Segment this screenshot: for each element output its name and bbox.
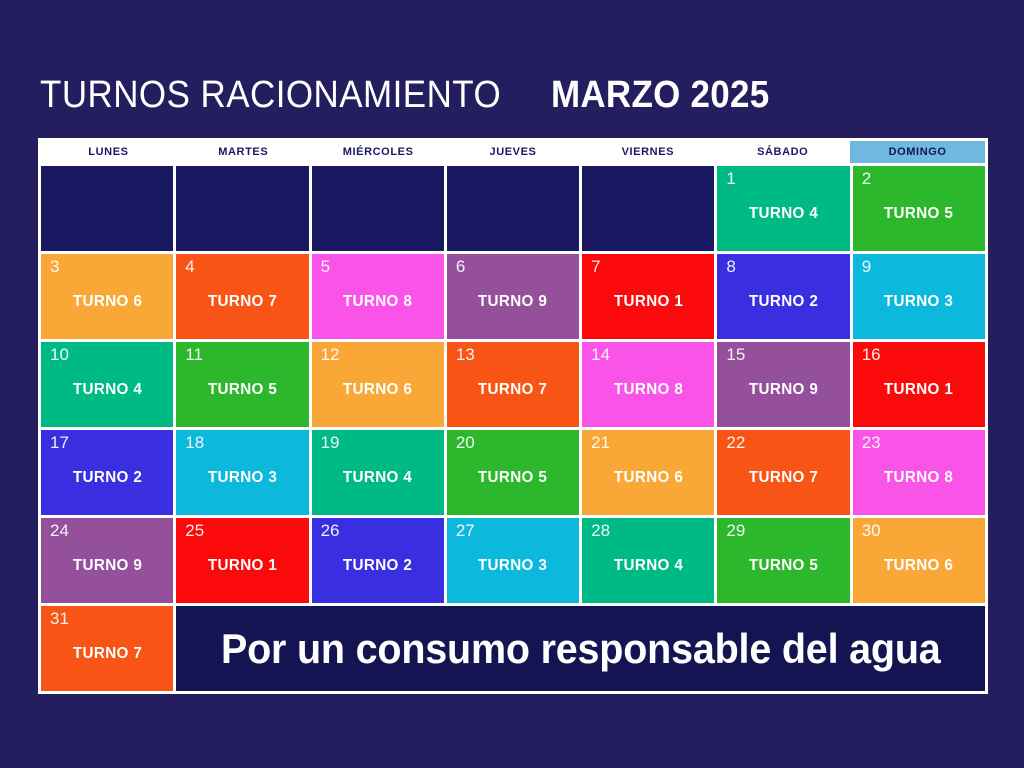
turno-label: TURNO 7 xyxy=(749,469,818,487)
calendar-weekday-header: LUNESMARTESMIÉRCOLESJUEVESVIERNESSÁBADOD… xyxy=(41,141,985,163)
weekday-header-jueves: JUEVES xyxy=(446,141,581,163)
weekday-header-viernes: VIERNES xyxy=(580,141,715,163)
turno-label: TURNO 7 xyxy=(72,645,141,663)
day-cell[interactable]: 17TURNO 2 xyxy=(41,430,173,515)
turno-label: TURNO 9 xyxy=(749,381,818,399)
turno-label: TURNO 2 xyxy=(343,557,412,575)
day-cell[interactable]: 27TURNO 3 xyxy=(447,518,579,603)
day-cell[interactable]: 24TURNO 9 xyxy=(41,518,173,603)
turno-label: TURNO 3 xyxy=(208,469,277,487)
day-cell[interactable]: 28TURNO 4 xyxy=(582,518,714,603)
turno-label: TURNO 5 xyxy=(478,469,547,487)
day-cell[interactable]: 31TURNO 7 xyxy=(41,606,173,691)
day-cell[interactable]: 4TURNO 7 xyxy=(176,254,308,339)
day-cell[interactable]: 3TURNO 6 xyxy=(41,254,173,339)
day-cell[interactable]: 21TURNO 6 xyxy=(582,430,714,515)
calendar-day-grid: 1TURNO 42TURNO 53TURNO 64TURNO 75TURNO 8… xyxy=(41,163,985,691)
day-number: 29 xyxy=(726,522,745,539)
day-cell[interactable]: 12TURNO 6 xyxy=(312,342,444,427)
day-number: 4 xyxy=(185,258,194,275)
day-cell[interactable]: 16TURNO 1 xyxy=(853,342,985,427)
day-cell[interactable]: 2TURNO 5 xyxy=(853,166,985,251)
day-number: 9 xyxy=(862,258,871,275)
turno-label: TURNO 1 xyxy=(208,557,277,575)
turno-label: TURNO 4 xyxy=(343,469,412,487)
day-cell[interactable]: 14TURNO 8 xyxy=(582,342,714,427)
day-cell[interactable]: 15TURNO 9 xyxy=(717,342,849,427)
day-number: 3 xyxy=(50,258,59,275)
weekday-header-miércoles: MIÉRCOLES xyxy=(311,141,446,163)
day-number: 5 xyxy=(321,258,330,275)
weekday-header-lunes: LUNES xyxy=(41,141,176,163)
turno-label: TURNO 7 xyxy=(208,293,277,311)
day-cell[interactable]: 7TURNO 1 xyxy=(582,254,714,339)
day-number: 14 xyxy=(591,346,610,363)
page-title-month-year: MARZO 2025 xyxy=(551,76,769,114)
day-number: 8 xyxy=(726,258,735,275)
turno-label: TURNO 3 xyxy=(884,293,953,311)
day-cell[interactable]: 18TURNO 3 xyxy=(176,430,308,515)
turno-label: TURNO 4 xyxy=(749,205,818,223)
turno-label: TURNO 9 xyxy=(478,293,547,311)
day-cell[interactable]: 25TURNO 1 xyxy=(176,518,308,603)
day-number: 25 xyxy=(185,522,204,539)
day-cell-empty xyxy=(176,166,308,251)
ration-schedule-poster: TURNOS RACIONAMIENTO MARZO 2025 LUNESMAR… xyxy=(0,0,1024,768)
day-cell[interactable]: 26TURNO 2 xyxy=(312,518,444,603)
slogan-banner: Por un consumo responsable del agua xyxy=(176,606,985,691)
day-number: 18 xyxy=(185,434,204,451)
day-number: 7 xyxy=(591,258,600,275)
day-cell[interactable]: 13TURNO 7 xyxy=(447,342,579,427)
day-number: 21 xyxy=(591,434,610,451)
day-cell[interactable]: 9TURNO 3 xyxy=(853,254,985,339)
day-number: 11 xyxy=(185,346,203,363)
turno-label: TURNO 8 xyxy=(343,293,412,311)
day-cell[interactable]: 6TURNO 9 xyxy=(447,254,579,339)
page-title: TURNOS RACIONAMIENTO MARZO 2025 xyxy=(40,56,990,114)
turno-label: TURNO 6 xyxy=(884,557,953,575)
day-cell[interactable]: 11TURNO 5 xyxy=(176,342,308,427)
day-number: 20 xyxy=(456,434,475,451)
day-cell[interactable]: 30TURNO 6 xyxy=(853,518,985,603)
day-number: 28 xyxy=(591,522,610,539)
turno-label: TURNO 7 xyxy=(478,381,547,399)
day-number: 1 xyxy=(726,170,735,187)
turno-label: TURNO 2 xyxy=(72,469,141,487)
turno-label: TURNO 3 xyxy=(478,557,547,575)
day-cell[interactable]: 1TURNO 4 xyxy=(717,166,849,251)
day-cell[interactable]: 10TURNO 4 xyxy=(41,342,173,427)
day-cell[interactable]: 19TURNO 4 xyxy=(312,430,444,515)
turno-label: TURNO 6 xyxy=(614,469,683,487)
day-cell-empty xyxy=(41,166,173,251)
day-number: 22 xyxy=(726,434,745,451)
weekday-header-martes: MARTES xyxy=(176,141,311,163)
day-number: 27 xyxy=(456,522,475,539)
turno-label: TURNO 6 xyxy=(72,293,141,311)
day-number: 19 xyxy=(321,434,340,451)
day-cell[interactable]: 20TURNO 5 xyxy=(447,430,579,515)
day-number: 15 xyxy=(726,346,745,363)
day-number: 17 xyxy=(50,434,69,451)
day-number: 12 xyxy=(321,346,340,363)
day-number: 24 xyxy=(50,522,69,539)
turno-label: TURNO 1 xyxy=(884,381,953,399)
turno-label: TURNO 4 xyxy=(72,381,141,399)
calendar-grid: LUNESMARTESMIÉRCOLESJUEVESVIERNESSÁBADOD… xyxy=(38,138,988,694)
day-cell-empty xyxy=(447,166,579,251)
day-number: 2 xyxy=(862,170,871,187)
day-cell[interactable]: 22TURNO 7 xyxy=(717,430,849,515)
turno-label: TURNO 8 xyxy=(884,469,953,487)
day-cell-empty xyxy=(582,166,714,251)
page-title-primary: TURNOS RACIONAMIENTO xyxy=(40,76,501,114)
day-cell[interactable]: 8TURNO 2 xyxy=(717,254,849,339)
day-number: 30 xyxy=(862,522,881,539)
slogan-text: Por un consumo responsable del agua xyxy=(221,625,941,673)
weekday-header-domingo: DOMINGO xyxy=(850,141,985,163)
turno-label: TURNO 1 xyxy=(614,293,683,311)
day-number: 31 xyxy=(50,610,69,627)
turno-label: TURNO 6 xyxy=(343,381,412,399)
day-cell[interactable]: 5TURNO 8 xyxy=(312,254,444,339)
day-number: 23 xyxy=(862,434,881,451)
turno-label: TURNO 9 xyxy=(72,557,141,575)
turno-label: TURNO 2 xyxy=(749,293,818,311)
day-number: 10 xyxy=(50,346,69,363)
day-cell[interactable]: 23TURNO 8 xyxy=(853,430,985,515)
day-number: 26 xyxy=(321,522,340,539)
day-cell[interactable]: 29TURNO 5 xyxy=(717,518,849,603)
turno-label: TURNO 8 xyxy=(614,381,683,399)
day-number: 16 xyxy=(862,346,881,363)
day-cell-empty xyxy=(312,166,444,251)
turno-label: TURNO 5 xyxy=(208,381,277,399)
turno-label: TURNO 5 xyxy=(749,557,818,575)
turno-label: TURNO 4 xyxy=(614,557,683,575)
day-number: 6 xyxy=(456,258,465,275)
day-number: 13 xyxy=(456,346,475,363)
turno-label: TURNO 5 xyxy=(884,205,953,223)
weekday-header-sábado: SÁBADO xyxy=(715,141,850,163)
